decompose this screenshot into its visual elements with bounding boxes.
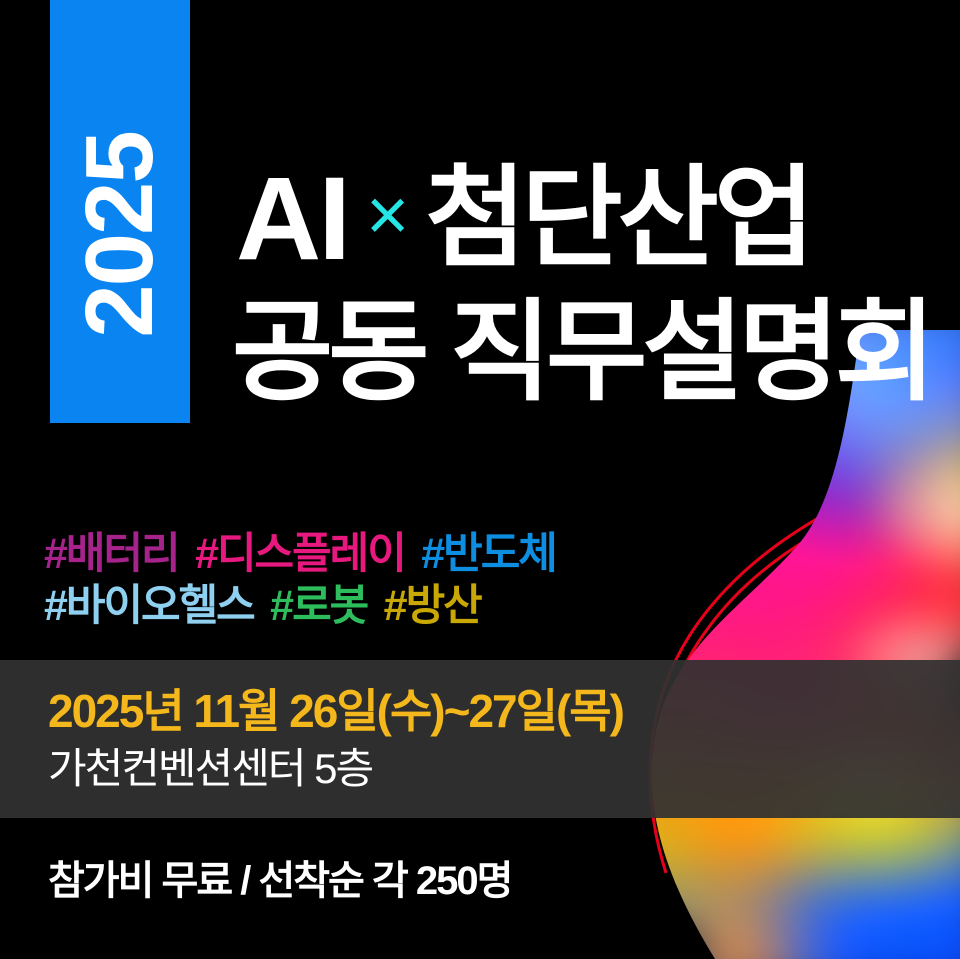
headline-session-title: 공동 직무설명회 [232,298,931,408]
hashtag-biohealth: #바이오헬스 [44,582,254,630]
headline-line-2: 공동 직무설명회 [232,298,931,408]
wave-gradient-base [620,330,960,959]
event-venue: 가천컨벤션센터 5층 [48,744,960,794]
headline-line-1: AI × 첨단산업 [236,160,931,278]
year-tab: 2025 [50,0,190,423]
headline-industry: 첨단산업 [425,164,810,274]
hashtag-semiconductor: #반도체 [421,530,556,578]
event-date: 2025년 11월 26일(수)~27일(목) [48,684,960,738]
headline-ai: AI [236,160,348,278]
hashtag-row-2: #바이오헬스 #로봇 #방산 [44,580,568,632]
hashtag-battery: #배터리 [44,530,179,578]
hashtag-row-1: #배터리 #디스플레이 #반도체 [44,528,568,580]
cross-symbol-icon: × [366,178,409,252]
gradient-wave-ribbon [620,330,960,959]
hashtag-display: #디스플레이 [195,530,405,578]
wave-highlight [620,330,960,959]
hashtag-robot: #로봇 [270,582,367,630]
info-band: 2025년 11월 26일(수)~27일(목) 가천컨벤션센터 5층 [0,660,960,818]
hashtag-defense: #방산 [384,582,481,630]
year-label: 2025 [72,132,168,338]
hashtag-list: #배터리 #디스플레이 #반도체 #바이오헬스 #로봇 #방산 [44,528,568,633]
poster-headline: AI × 첨단산업 공동 직무설명회 [236,160,931,408]
event-poster: 2025 AI × 첨단산업 공동 직무설명회 #배터리 #디스플레이 #반도체… [0,0,960,959]
wave-shadow [620,330,960,959]
participation-note: 참가비 무료 / 선착순 각 250명 [48,848,511,906]
